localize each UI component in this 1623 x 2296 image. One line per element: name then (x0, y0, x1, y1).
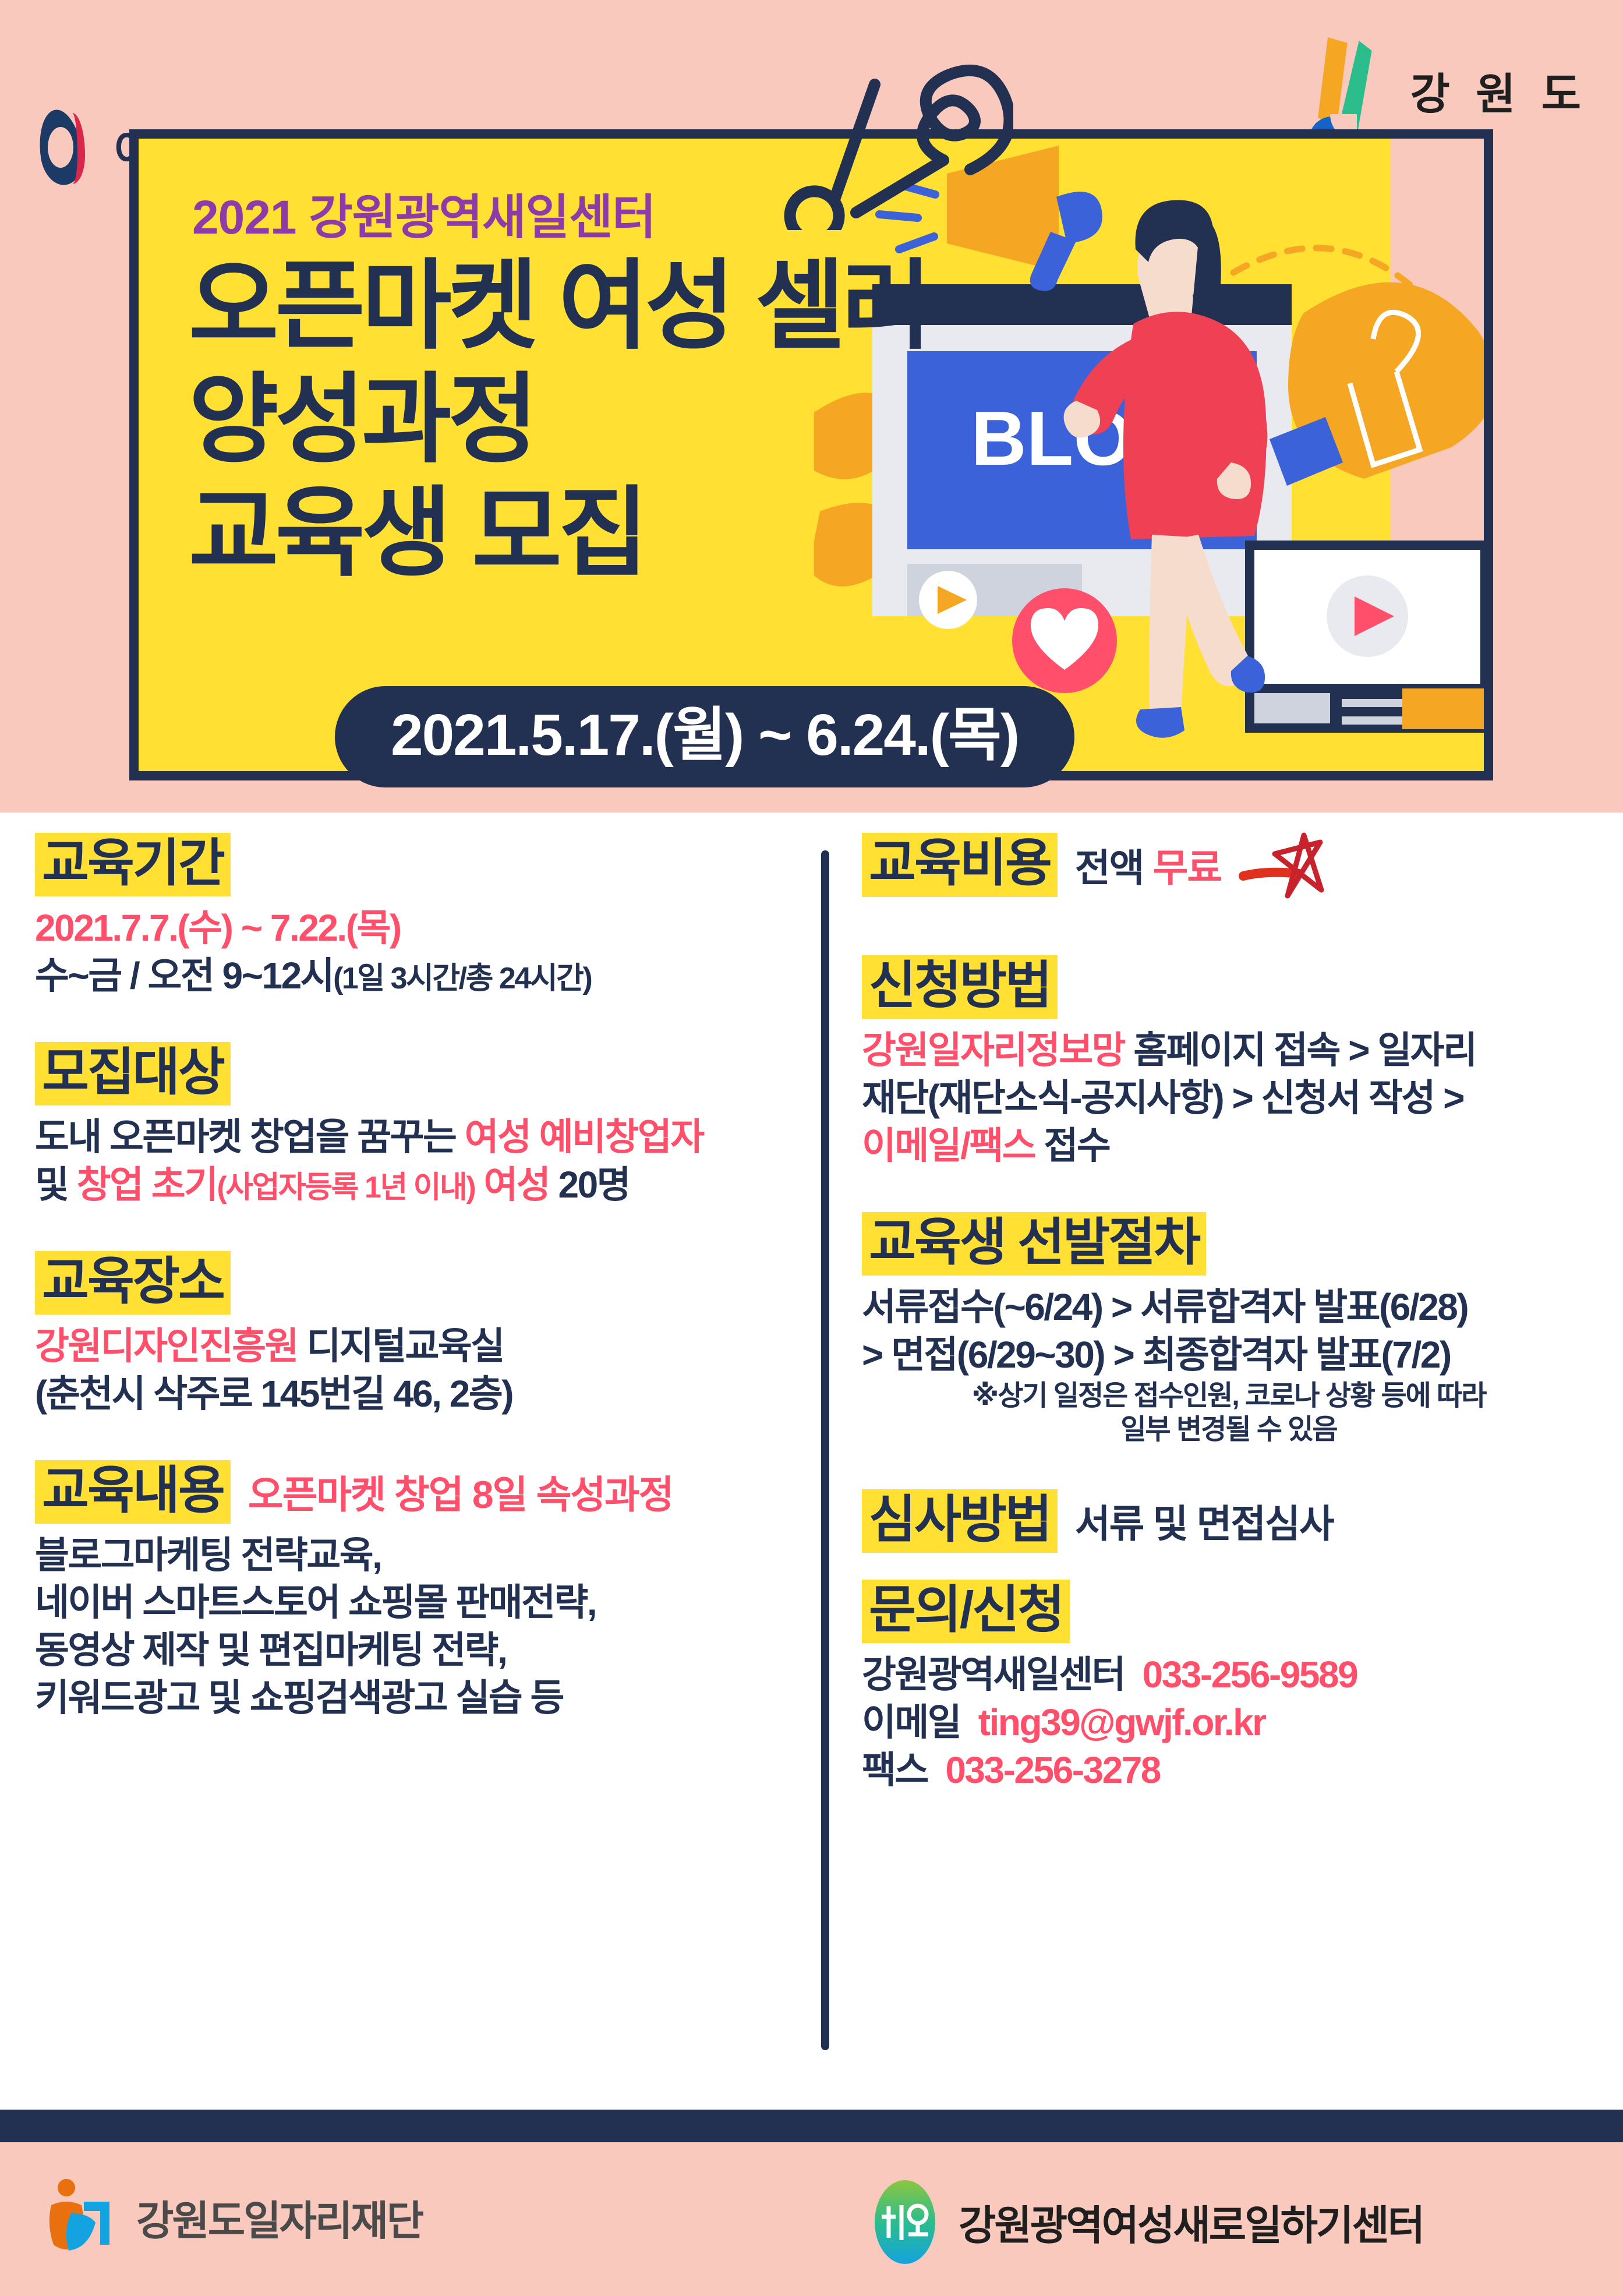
selection-line-1: 서류접수(~6/24) > 서류합격자 발표(6/28) (862, 1284, 1596, 1331)
footer-logo-jobs-foundation: 강원도일자리재단 (45, 2177, 422, 2258)
target-line-1a: 도내 오픈마켓 창업을 꿈꾸는 (35, 1116, 465, 1158)
contact-email-label: 이메일 (862, 1701, 960, 1743)
selection-note-2: 일부 변경될 수 있음 (862, 1413, 1596, 1447)
target-line-1b: 여성 예비창업자 (465, 1116, 703, 1158)
content-item-1: 블로그마케팅 전략교육, (35, 1532, 804, 1580)
content-heading: 교육내용 (35, 1460, 231, 1524)
footer: 강원도일자리재단 강원광역여성새로일하기센터 (0, 2142, 1623, 2296)
section-period: 교육기간 2021.7.7.(수) ~ 7.22.(목) 수~금 / 오전 9~… (35, 833, 804, 1000)
fee-note: 전액 무료 (1075, 837, 1221, 893)
apply-line-1b: 홈페이지 접속 > 일자리 (1125, 1029, 1476, 1071)
footer-logo-saeil-center: 강원광역여성새로일하기센터 (868, 2178, 1423, 2266)
contact-fax-label: 팩스 (862, 1749, 928, 1791)
venue-address: (춘천시 삭주로 145번길 46, 2층) (35, 1370, 804, 1418)
province-logo-label: 강 원 도 (1410, 59, 1588, 122)
fee-note-a: 전액 (1075, 846, 1153, 889)
section-content: 교육내용 오픈마켓 창업 8일 속성과정 블로그마케팅 전략교육, 네이버 스마… (35, 1460, 804, 1723)
target-line-2e: 20명 (558, 1164, 630, 1206)
hero-title-line-2: 양성과정 (189, 363, 928, 476)
saeil-icon (868, 2178, 942, 2266)
gangwon-jobs-icon (45, 2177, 120, 2258)
section-apply: 신청방법 강원일자리정보망 홈페이지 접속 > 일자리 재단(재단소식-공지사항… (862, 955, 1596, 1170)
target-line-2b: 창업 초기 (77, 1164, 217, 1206)
date-range-text: 2021.5.17.(월) ~ 6.24.(목) (391, 706, 1019, 764)
venue-line-1: 강원디자인진흥원 디지털교육실 (35, 1323, 804, 1370)
date-badge: 2021.5.17.(월) ~ 6.24.(목) (335, 686, 1074, 787)
selection-line-2: > 면접(6/29~30) > 최종합격자 발표(7/2) (862, 1331, 1596, 1379)
contact-phone[interactable]: 033-256-9589 (1143, 1654, 1357, 1695)
taegeuk-icon (35, 109, 99, 185)
period-dates: 2021.7.7.(수) ~ 7.22.(목) (35, 905, 804, 952)
target-line-2a: 및 (35, 1164, 77, 1206)
content-item-2: 네이버 스마트스토어 쇼핑몰 판매전략, (35, 1579, 804, 1627)
hero-title-line-1: 오픈마켓 여성 셀러 (189, 249, 928, 363)
selection-note-1: ※상기 일정은 접수인원, 코로나 상황 등에 따라 (862, 1379, 1596, 1414)
right-column: 교육비용 전액 무료 신청방법 강원일자리정보망 홈페이지 접속 > 일자리 (862, 827, 1596, 1803)
venue-room: 디지털교육실 (298, 1325, 504, 1367)
target-heading: 모집대상 (35, 1042, 231, 1105)
period-heading: 교육기간 (35, 833, 231, 896)
left-column: 교육기간 2021.7.7.(수) ~ 7.22.(목) 수~금 / 오전 9~… (35, 833, 804, 1732)
contact-fax-row: 팩스 033-256-3278 (862, 1747, 1596, 1795)
content-item-4: 키워드광고 및 쇼핑검색광고 실습 등 (35, 1675, 804, 1722)
apply-line-1: 강원일자리정보망 홈페이지 접속 > 일자리 (862, 1027, 1596, 1075)
target-line-1: 도내 오픈마켓 창업을 꿈꾸는 여성 예비창업자 (35, 1114, 804, 1161)
apply-heading: 신청방법 (862, 955, 1058, 1019)
selection-heading: 교육생 선발절차 (862, 1212, 1206, 1276)
content-head-note: 오픈마켓 창업 8일 속성과정 (248, 1464, 673, 1520)
content-item-3: 동영상 제작 및 편집마케팅 전략, (35, 1627, 804, 1675)
target-line-2: 및 창업 초기(사업자등록 1년 이내) 여성 20명 (35, 1161, 804, 1209)
apply-channel: 이메일/팩스 (862, 1125, 1035, 1167)
section-fee: 교육비용 전액 무료 (862, 827, 1596, 903)
period-hours-main: 수~금 / 오전 9~12시 (35, 955, 333, 997)
section-contact: 문의/신청 강원광역새일센터 033-256-9589 이메일 ting39@g… (862, 1580, 1596, 1795)
fee-note-b: 무료 (1153, 846, 1221, 889)
section-venue: 교육장소 강원디자인진흥원 디지털교육실 (춘천시 삭주로 145번길 46, … (35, 1251, 804, 1418)
hero-kicker: 2021 강원광역새일센터 (192, 178, 656, 248)
period-hours: 수~금 / 오전 9~12시(1일 3시간/총 24시간) (35, 952, 804, 1000)
period-hours-sub: (1일 3시간/총 24시간) (333, 962, 591, 995)
hero-title: 오픈마켓 여성 셀러 양성과정 교육생 모집 (189, 249, 928, 590)
hero-title-line-3: 교육생 모집 (189, 476, 928, 590)
venue-heading: 교육장소 (35, 1251, 231, 1315)
hero-panel: BLOG (129, 129, 1493, 780)
body-section: 교육기간 2021.7.7.(수) ~ 7.22.(목) 수~금 / 오전 9~… (0, 815, 1623, 2110)
contact-phone-row: 강원광역새일센터 033-256-9589 (862, 1651, 1596, 1699)
contact-email-row: 이메일 ting39@gwjf.or.kr (862, 1699, 1596, 1747)
footer-logo1-label: 강원도일자리재단 (136, 2188, 422, 2247)
review-note: 서류 및 면접심사 (1075, 1493, 1334, 1549)
contact-fax: 033-256-3278 (945, 1749, 1160, 1791)
venue-name: 강원디자인진흥원 (35, 1325, 298, 1367)
apply-line-3b: 접수 (1035, 1125, 1109, 1167)
apply-line-3: 이메일/팩스 접수 (862, 1122, 1596, 1170)
review-heading: 심사방법 (862, 1489, 1058, 1553)
contact-org-label: 강원광역새일센터 (862, 1654, 1125, 1695)
footer-logo2-label: 강원광역여성새로일하기센터 (959, 2193, 1423, 2252)
target-line-2c: (사업자등록 1년 이내) (217, 1171, 475, 1204)
section-review: 심사방법 서류 및 면접심사 (862, 1489, 1596, 1553)
fee-heading: 교육비용 (862, 833, 1058, 896)
contact-heading: 문의/신청 (862, 1580, 1070, 1643)
contact-email[interactable]: ting39@gwjf.or.kr (978, 1701, 1265, 1743)
section-target: 모집대상 도내 오픈마켓 창업을 꿈꾸는 여성 예비창업자 및 창업 초기(사업… (35, 1042, 804, 1209)
column-divider (821, 850, 829, 2050)
footer-navy-bar (0, 2110, 1623, 2142)
free-stamp-scribble-icon (1239, 827, 1326, 903)
apply-line-2: 재단(재단소식-공지사항) > 신청서 작성 > (862, 1075, 1596, 1122)
section-selection: 교육생 선발절차 서류접수(~6/24) > 서류합격자 발표(6/28) > … (862, 1212, 1596, 1447)
apply-site-name: 강원일자리정보망 (862, 1029, 1125, 1071)
target-line-2d: 여성 (475, 1164, 558, 1206)
